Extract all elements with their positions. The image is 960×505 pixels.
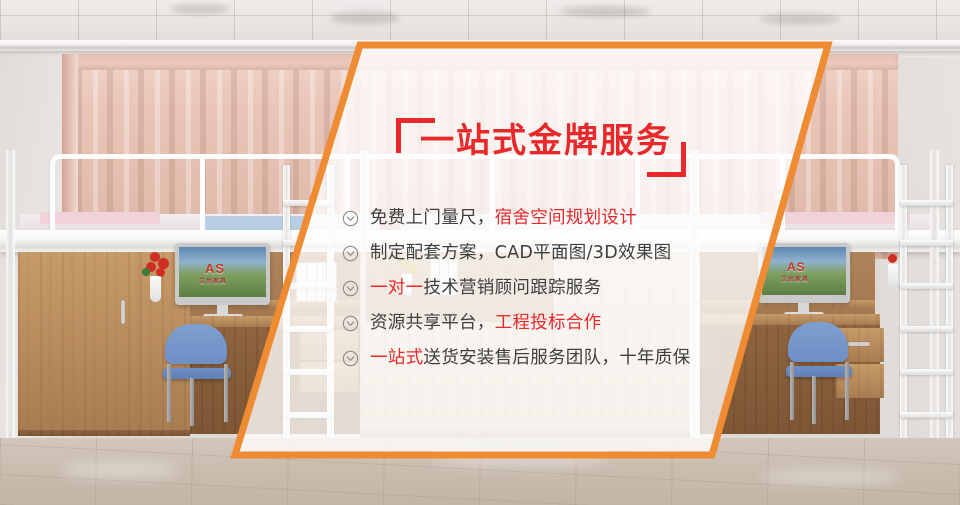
- feature-list: 免费上门量尺，宿舍空间规划设计 制定配套方案，CAD平面图/3D效果图 一对一技…: [342, 201, 762, 376]
- list-item: 一站式送货安装售后服务团队，十年质保: [342, 341, 762, 376]
- promo-banner: AS 艾尚家具 AS 艾尚家具: [0, 0, 960, 505]
- list-item-text: 资源共享平台，工程投标合作: [370, 315, 601, 333]
- text-plain-prefix: 制定配套方案，CAD平面图/3D效果图: [370, 243, 671, 263]
- chevron-down-circle-icon: [342, 210, 359, 227]
- list-item-text: 免费上门量尺，宿舍空间规划设计: [370, 210, 637, 228]
- chevron-down-circle-icon: [342, 245, 359, 262]
- list-item-text: 制定配套方案，CAD平面图/3D效果图: [370, 245, 671, 263]
- list-item: 免费上门量尺，宿舍空间规划设计: [342, 201, 762, 236]
- text-plain-prefix: 资源共享平台，: [370, 313, 495, 333]
- text-highlight: 工程投标合作: [495, 313, 602, 333]
- text-plain-prefix: 免费上门量尺，: [370, 208, 495, 228]
- title-block: 一站式金牌服务: [396, 118, 686, 180]
- list-item: 制定配套方案，CAD平面图/3D效果图: [342, 236, 762, 271]
- chevron-down-circle-icon: [342, 315, 359, 332]
- text-plain-suffix: 技术营销顾问跟踪服务: [423, 278, 601, 298]
- list-item-text: 一站式送货安装售后服务团队，十年质保: [370, 350, 690, 368]
- text-highlight: 一站式: [370, 348, 423, 368]
- list-item-text: 一对一技术营销顾问跟踪服务: [370, 280, 601, 298]
- list-item: 资源共享平台，工程投标合作: [342, 306, 762, 341]
- text-plain-suffix: 送货安装售后服务团队，十年质保: [423, 348, 690, 368]
- panel-content: 一站式金牌服务 免费上门量尺，宿舍空间规划设计 制定配套方案，CAD平面图/3D…: [0, 0, 960, 505]
- text-highlight: 一对一: [370, 278, 423, 298]
- chevron-down-circle-icon: [342, 280, 359, 297]
- list-item: 一对一技术营销顾问跟踪服务: [342, 271, 762, 306]
- chevron-down-circle-icon: [342, 350, 359, 367]
- page-title: 一站式金牌服务: [420, 124, 672, 158]
- text-highlight: 宿舍空间规划设计: [495, 208, 637, 228]
